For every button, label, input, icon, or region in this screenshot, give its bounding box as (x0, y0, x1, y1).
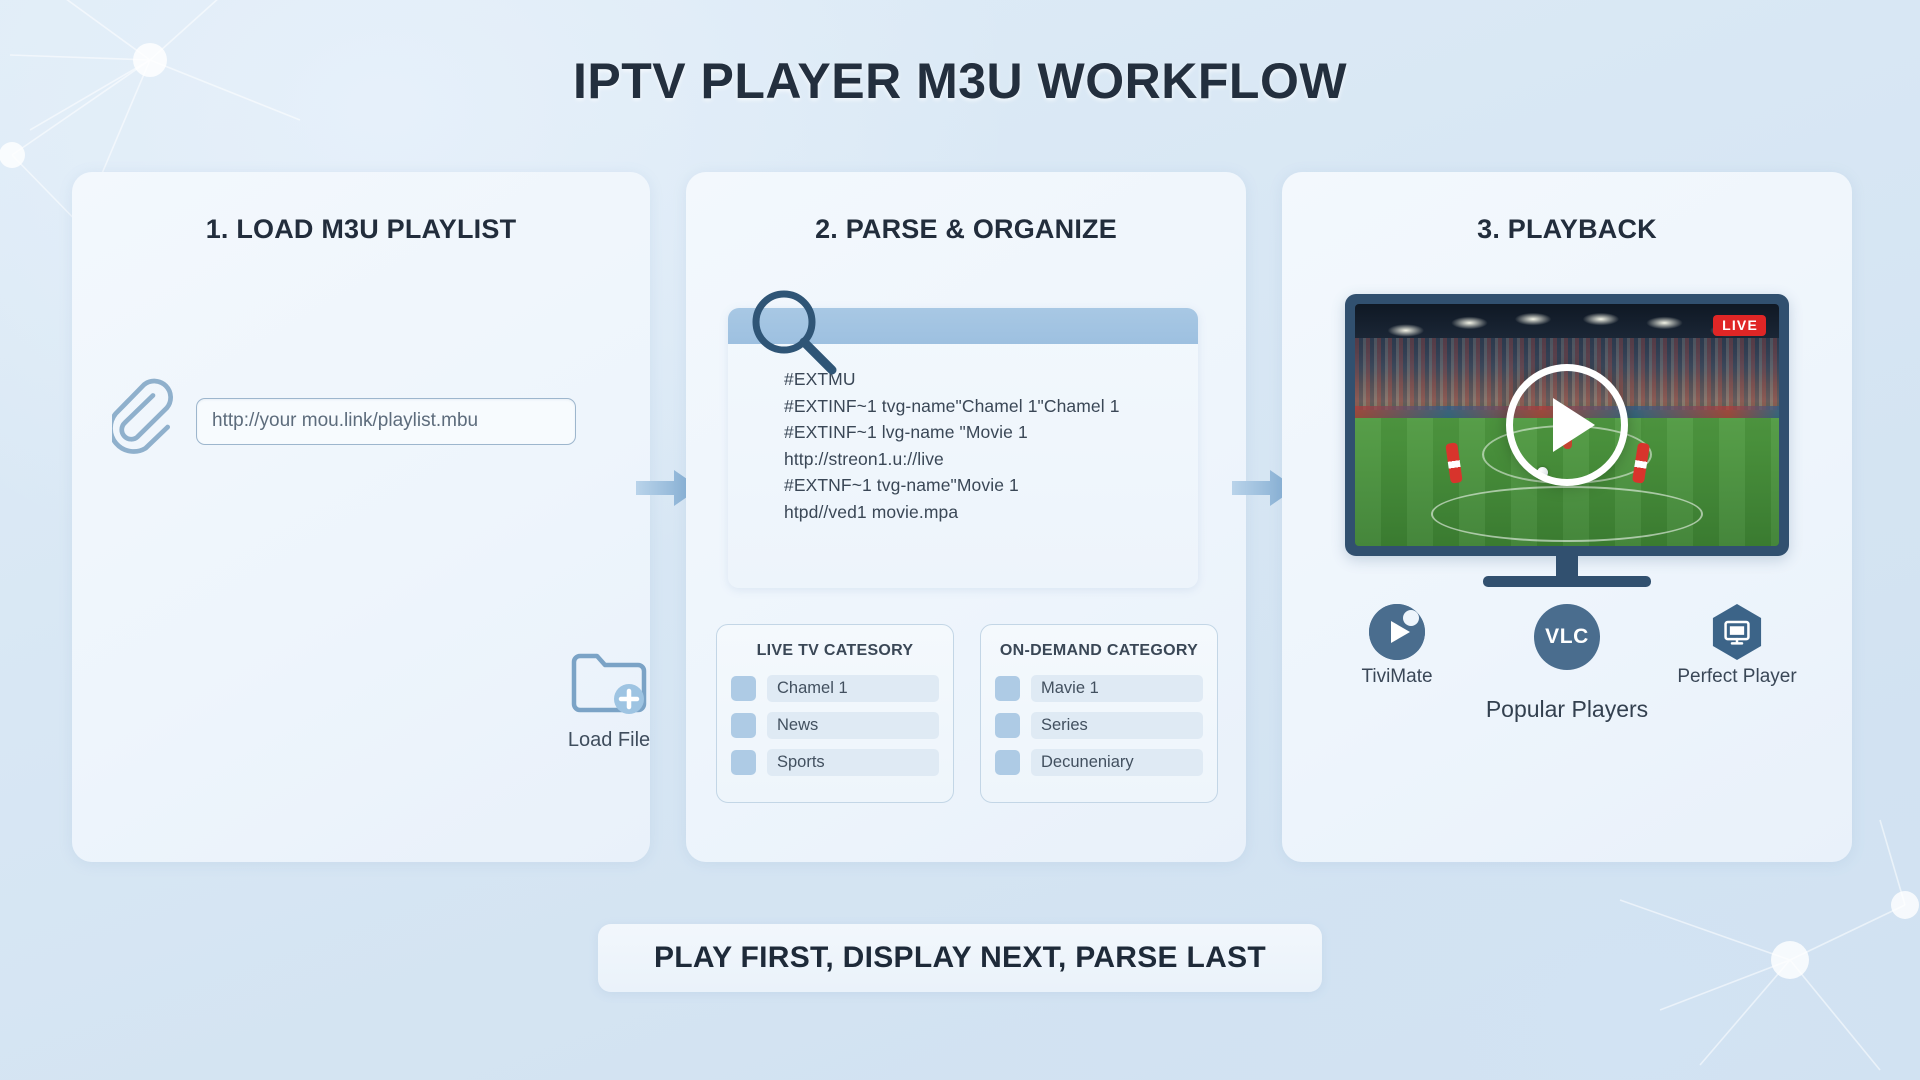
category-swatch (731, 676, 756, 701)
category-swatch (731, 713, 756, 738)
page-title: IPTV PLAYER M3U WORKFLOW (0, 52, 1920, 110)
code-line: #EXTMU (784, 366, 1198, 393)
tv-stand-neck (1556, 556, 1578, 578)
player-item-vlc[interactable]: VLC (1492, 604, 1642, 676)
category-list-item[interactable]: Chamel 1 (731, 675, 939, 702)
workflow-panels: 1. LOAD M3U PLAYLIST http://your mou.lin… (72, 172, 1862, 862)
category-item-label: News (767, 712, 939, 739)
code-line: http://streon1.u://live (784, 446, 1198, 473)
perfect-player-screen-icon (1709, 604, 1765, 660)
code-line: #EXTINF~1 lvg-name "Movie 1 (784, 419, 1198, 446)
play-triangle (1553, 398, 1595, 452)
player-item-perfect-player[interactable]: Perfect Player (1662, 604, 1812, 688)
player-label: TiviMate (1322, 666, 1472, 688)
tv-stand-base (1483, 576, 1651, 587)
category-boxes: LIVE TV CATESORY Chamel 1 News Sports ON… (716, 624, 1218, 803)
category-item-label: Chamel 1 (767, 675, 939, 702)
code-line: #EXTINF~1 tvg-name"Chamel 1"Chamel 1 (784, 393, 1198, 420)
arrow-gap-2 (1246, 172, 1282, 862)
vlc-cone-icon: VLC (1534, 604, 1600, 670)
category-swatch (995, 676, 1020, 701)
code-line: htpd//ved1 movie.mpa (784, 499, 1198, 526)
url-input-value: http://your mou.link/playlist.mbu (212, 410, 478, 432)
category-item-label: Decuneniary (1031, 749, 1203, 776)
arrow-gap-1 (650, 172, 686, 862)
panel-3-heading: 3. PLAYBACK (1282, 214, 1852, 245)
popular-players-row: TiviMate VLC Perfect Player (1322, 604, 1812, 688)
category-box-live-tv: LIVE TV CATESORY Chamel 1 News Sports (716, 624, 954, 803)
category-list-item[interactable]: Series (995, 712, 1203, 739)
pitch-arc (1431, 486, 1702, 542)
paperclip-icon (112, 375, 184, 467)
category-swatch (995, 750, 1020, 775)
panel-parse-organize: 2. PARSE & ORGANIZE #EXTMU #EXTINF~1 tvg… (686, 172, 1246, 862)
popular-players-caption: Popular Players (1282, 696, 1852, 723)
player-label: Perfect Player (1662, 666, 1812, 688)
category-item-label: Sports (767, 749, 939, 776)
live-badge: LIVE (1713, 315, 1766, 336)
panel-2-heading: 2. PARSE & ORGANIZE (686, 214, 1246, 245)
play-button-icon[interactable] (1506, 364, 1628, 486)
tivimate-play-icon (1369, 604, 1425, 660)
url-input[interactable]: http://your mou.link/playlist.mbu (196, 398, 576, 445)
category-title: ON-DEMAND CATEGORY (995, 642, 1203, 660)
url-input-row: http://your mou.link/playlist.mbu (112, 375, 576, 467)
folder-add-icon (566, 642, 652, 718)
category-item-label: Series (1031, 712, 1203, 739)
category-swatch (995, 713, 1020, 738)
category-swatch (731, 750, 756, 775)
tv-monitor: LIVE (1345, 294, 1789, 556)
m3u-code-card: #EXTMU #EXTINF~1 tvg-name"Chamel 1"Chame… (728, 308, 1198, 588)
category-list-item[interactable]: News (731, 712, 939, 739)
player-item-tivimate[interactable]: TiviMate (1322, 604, 1472, 688)
category-list-item[interactable]: Decuneniary (995, 749, 1203, 776)
code-line: #EXTNF~1 tvg-name"Movie 1 (784, 472, 1198, 499)
video-screen[interactable]: LIVE (1355, 304, 1779, 546)
panel-playback: 3. PLAYBACK LIVE (1282, 172, 1852, 862)
category-box-on-demand: ON-DEMAND CATEGORY Mavie 1 Series Decune… (980, 624, 1218, 803)
panel-1-heading: 1. LOAD M3U PLAYLIST (72, 214, 650, 245)
footer-banner: PLAY FIRST, DISPLAY NEXT, PARSE LAST (598, 924, 1322, 992)
vlc-badge-text: VLC (1545, 625, 1589, 649)
panel-load-m3u-playlist: 1. LOAD M3U PLAYLIST http://your mou.lin… (72, 172, 650, 862)
magnifier-icon (744, 284, 840, 380)
category-list-item[interactable]: Sports (731, 749, 939, 776)
category-list-item[interactable]: Mavie 1 (995, 675, 1203, 702)
category-title: LIVE TV CATESORY (731, 642, 939, 660)
category-item-label: Mavie 1 (1031, 675, 1203, 702)
